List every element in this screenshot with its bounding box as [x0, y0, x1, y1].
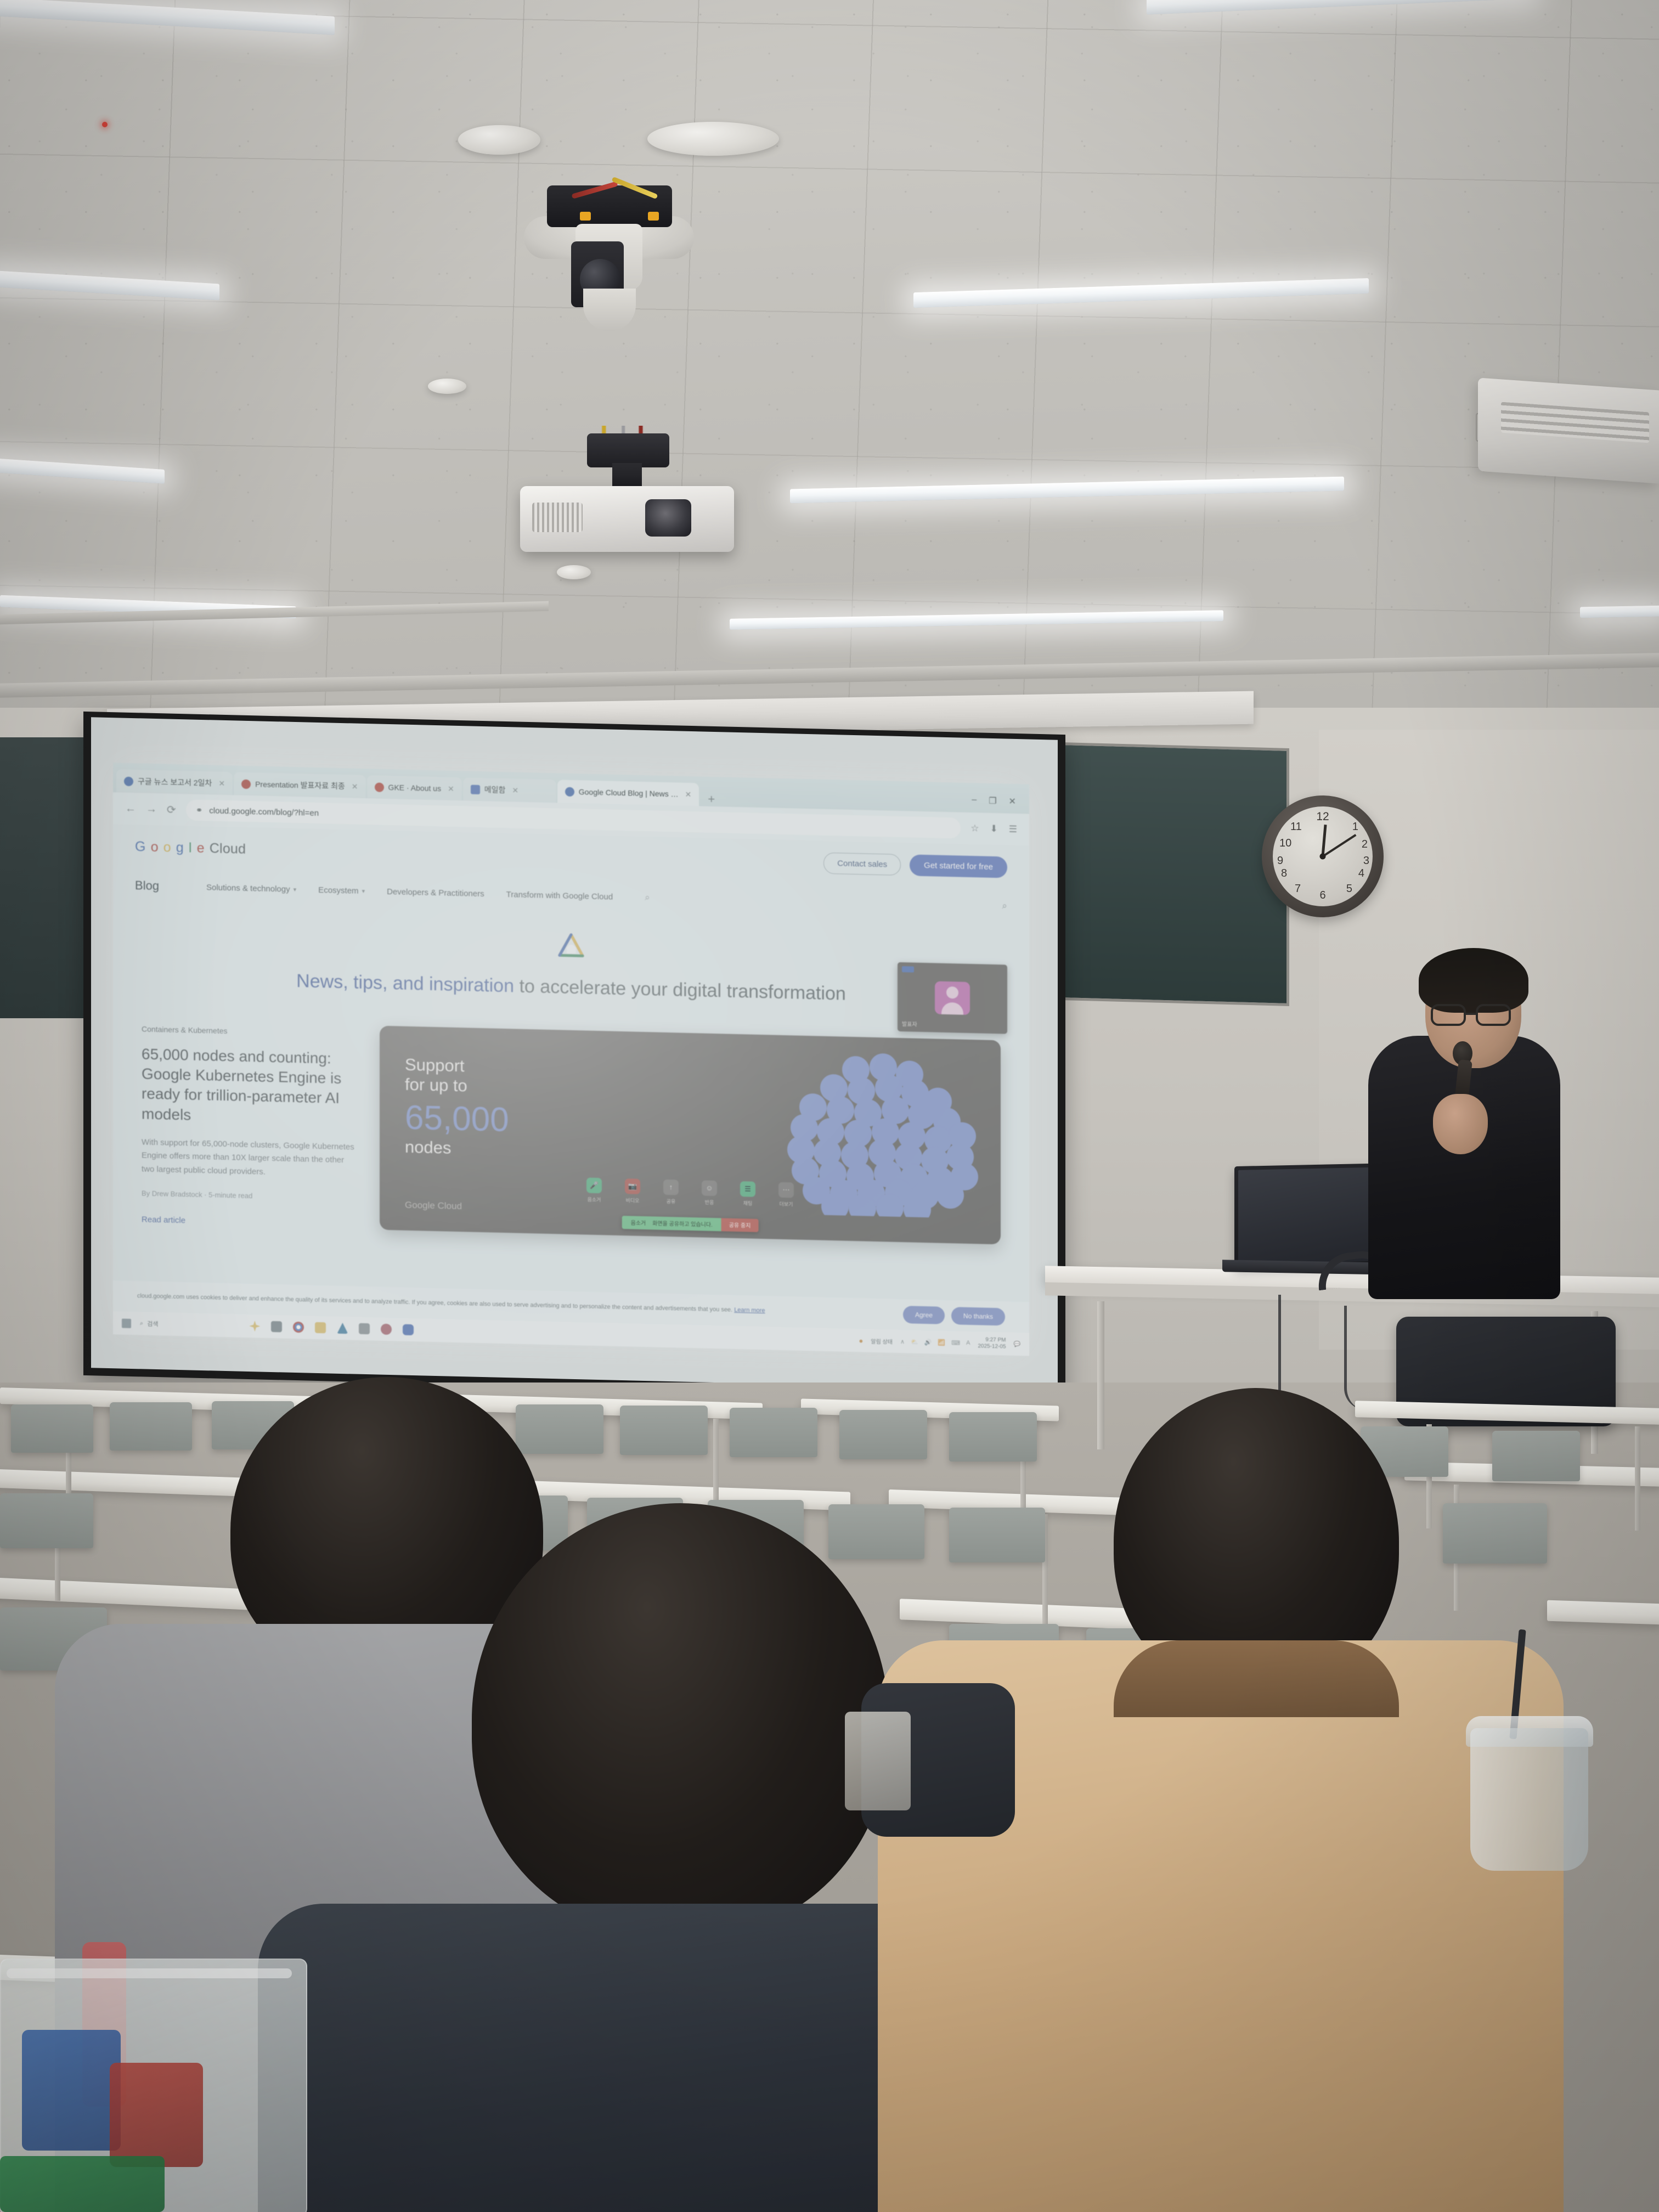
- chair-6: [730, 1408, 817, 1457]
- clock-center-pin: [1320, 854, 1326, 860]
- camera-icon: 📷: [625, 1178, 640, 1194]
- hero-title: News, tips, and inspiration to accelerat…: [275, 968, 867, 1007]
- camera-base: [583, 289, 636, 331]
- clock-time: 9:27 PM: [978, 1336, 1006, 1344]
- toolbar-icons: ☆ ⬇ ☰: [970, 823, 1017, 835]
- clock-numeral-6: 6: [1319, 889, 1325, 902]
- zoom-icon[interactable]: [403, 1324, 414, 1335]
- clock-hour-hand: [1322, 825, 1327, 856]
- window-controls: – ❐ ✕: [972, 795, 1024, 814]
- chevron-down-icon: ▾: [294, 885, 297, 893]
- chair-13: [828, 1504, 924, 1559]
- chair-9: [0, 1493, 93, 1548]
- meeting-button-label: 더보기: [778, 1200, 794, 1207]
- google-cloud-mark-icon: [555, 931, 587, 963]
- stop-sharing-button[interactable]: 공유 중지: [721, 1218, 759, 1232]
- nav-item-label: Developers & Practitioners: [387, 887, 484, 898]
- google-cloud-logo[interactable]: Google Cloud: [135, 839, 246, 857]
- clock-numeral-8: 8: [1281, 867, 1287, 880]
- weather-icon[interactable]: ⛅: [911, 1338, 918, 1345]
- article-headline[interactable]: 65,000 nodes and counting: Google Kubern…: [142, 1044, 356, 1129]
- clock-face: 12 1 2 3 4 5 6 7 8 9 10 11: [1273, 806, 1373, 906]
- logo-letter-o2: o: [163, 839, 171, 855]
- share-notice: 음소거 화면을 공유하고 있습니다.: [622, 1216, 721, 1231]
- meeting-camera-button[interactable]: 📷 비디오: [624, 1178, 641, 1204]
- desk-leg-6: [1635, 1426, 1640, 1531]
- tab-title: GKE · About us: [388, 783, 442, 793]
- tab-title: Google Cloud Blog | News …: [579, 787, 679, 798]
- nav-item-ecosystem[interactable]: Ecosystem ▾: [318, 885, 365, 895]
- clock-numeral-4: 4: [1358, 867, 1364, 880]
- tab-title: Presentation 발표자료 최종: [255, 778, 345, 792]
- card-line-3: nodes: [405, 1137, 569, 1161]
- search-placeholder: 검색: [147, 1319, 158, 1328]
- tab-title: 구글 뉴스 보고서 2일차: [138, 776, 212, 788]
- clock-minute-hand: [1322, 834, 1357, 857]
- projector-lens: [645, 499, 691, 537]
- presenter-hands: [1433, 1094, 1488, 1154]
- bag-item-blue: [22, 2030, 121, 2151]
- url-text: cloud.google.com/blog/?hl=en: [209, 806, 319, 818]
- ceiling-speaker-2: [647, 122, 779, 156]
- cookie-agree-button[interactable]: Agree: [903, 1306, 945, 1324]
- logo-letter-o1: o: [151, 839, 159, 855]
- camera-body: [547, 185, 672, 227]
- cookie-decline-button[interactable]: No thanks: [951, 1307, 1005, 1325]
- chair-1: [11, 1404, 93, 1453]
- tray-status-label: 알림 상태: [871, 1336, 893, 1345]
- video-call-participant-tile[interactable]: 발표자: [898, 962, 1007, 1034]
- read-article-link[interactable]: Read article: [142, 1215, 185, 1225]
- reaction-icon: ☺: [702, 1180, 717, 1196]
- maximize-button[interactable]: ❐: [989, 795, 996, 806]
- meeting-more-button[interactable]: ⋯ 더보기: [778, 1182, 794, 1207]
- meeting-reaction-button[interactable]: ☺ 반응: [701, 1180, 718, 1206]
- ceiling-speaker-1: [458, 125, 540, 155]
- forward-button[interactable]: →: [146, 803, 157, 815]
- featured-article-text: Containers & Kubernetes 65,000 nodes and…: [142, 1020, 356, 1230]
- share-mute-label[interactable]: 음소거: [631, 1218, 646, 1227]
- desk-leg-3: [713, 1419, 719, 1512]
- nav-item-label: Ecosystem: [318, 885, 358, 895]
- meeting-button-label: 반응: [701, 1198, 718, 1206]
- taskbar-left: ⌕ 검색: [122, 1318, 158, 1329]
- drink-cup: [1470, 1728, 1588, 1871]
- nav-item-label: Solutions & technology: [206, 883, 290, 894]
- ceiling-sensor-1: [428, 379, 466, 394]
- get-started-button[interactable]: Get started for free: [910, 854, 1007, 878]
- meeting-button-label: 공유: [663, 1197, 679, 1205]
- presenter-desk-leg-left: [1097, 1301, 1104, 1449]
- meeting-share-button[interactable]: ↑ 공유: [663, 1179, 679, 1205]
- projected-browser-window[interactable]: 구글 뉴스 보고서 2일차 ✕ Presentation 발표자료 최종 ✕ G…: [113, 763, 1029, 1356]
- tab-close-icon[interactable]: ✕: [685, 789, 692, 799]
- wall-clock: 12 1 2 3 4 5 6 7 8 9 10 11: [1262, 795, 1384, 917]
- cookie-message: cloud.google.com uses cookies to deliver…: [137, 1293, 732, 1314]
- search-icon: ⌕: [140, 1320, 143, 1327]
- network-icon[interactable]: 📶: [938, 1339, 945, 1346]
- ceiling-projector: [516, 433, 746, 560]
- nav-item-transform[interactable]: Transform with Google Cloud: [506, 890, 613, 902]
- copilot-icon[interactable]: [249, 1321, 260, 1331]
- header-actions: Contact sales Get started for free: [823, 852, 1007, 878]
- projector-indicator-led: [102, 122, 108, 127]
- nav-search-icon[interactable]: ⌕: [645, 892, 650, 903]
- projector-mount: [587, 433, 669, 467]
- clock-numeral-2: 2: [1362, 838, 1368, 851]
- student-right-collar: [1114, 1640, 1399, 1717]
- logo-letter-g1: G: [135, 839, 146, 855]
- start-button-icon[interactable]: [122, 1318, 131, 1328]
- edge-icon[interactable]: [337, 1323, 348, 1334]
- participant-avatar: [935, 981, 970, 1015]
- browser-tab-2[interactable]: Presentation 발표자료 최종 ✕: [234, 772, 365, 798]
- taskbar-right: ● 알림 상태 ∧ ⛅ 🔊 📶 ⌨ A 9:27 PM: [859, 1334, 1020, 1351]
- chair-21: [1443, 1503, 1547, 1564]
- hero-title-accent: News, tips, and inspiration: [296, 970, 514, 996]
- card-line-2: for up to: [405, 1075, 569, 1099]
- chair-8: [949, 1412, 1037, 1462]
- article-byline: By Drew Bradstock · 5-minute read: [142, 1189, 356, 1202]
- google-cloud-blog-page: Google Cloud Contact sales Get started f…: [113, 824, 1029, 1356]
- node-cluster-illustration: [774, 1049, 982, 1218]
- chair-4: [516, 1404, 603, 1454]
- browser-tab-4[interactable]: 메일함 ✕: [463, 777, 556, 803]
- camera-connector-right: [648, 212, 659, 221]
- clock-date: 2025-12-05: [978, 1343, 1006, 1351]
- clock-numeral-12: 12: [1316, 810, 1329, 823]
- projector-vent: [532, 503, 583, 532]
- lecture-hall-scene: 12 1 2 3 4 5 6 7 8 9 10 11: [0, 0, 1659, 2212]
- article-category[interactable]: Containers & Kubernetes: [142, 1024, 356, 1038]
- chair-2: [110, 1402, 192, 1451]
- notification-center-icon[interactable]: 💬: [1014, 1341, 1020, 1347]
- minimize-button[interactable]: –: [972, 795, 977, 806]
- logo-letter-g2: g: [176, 839, 184, 855]
- microphone-icon: 🎤: [586, 1177, 602, 1193]
- camera-connector-left: [580, 212, 591, 221]
- card-big-number: 65,000: [405, 1100, 569, 1138]
- tab-favicon-icon: [565, 787, 574, 796]
- clock-numeral-11: 11: [1290, 821, 1302, 833]
- hero-title-rest: to accelerate your digital transformatio…: [514, 975, 846, 1004]
- site-info-icon[interactable]: ⚭: [196, 805, 203, 815]
- clock-numeral-9: 9: [1277, 855, 1283, 867]
- volume-icon[interactable]: 🔊: [924, 1339, 932, 1346]
- tab-favicon-icon: [241, 779, 251, 788]
- logo-letter-e: e: [197, 840, 205, 856]
- card-copy: Support for up to 65,000 nodes: [405, 1054, 569, 1160]
- nav-item-solutions[interactable]: Solutions & technology ▾: [206, 883, 296, 894]
- card-brand-logo: Google Cloud: [405, 1199, 462, 1211]
- ptz-camera: [518, 159, 699, 329]
- meeting-chat-button[interactable]: ☰ 채팅: [740, 1181, 756, 1207]
- chat-icon: ☰: [740, 1181, 755, 1197]
- tab-favicon-icon: [471, 785, 480, 794]
- tab-close-icon[interactable]: ✕: [512, 786, 518, 795]
- chrome-icon[interactable]: [293, 1322, 304, 1333]
- tab-favicon-icon: [375, 782, 384, 792]
- taskbar-search[interactable]: ⌕ 검색: [140, 1319, 158, 1328]
- notepad-icon[interactable]: [359, 1323, 370, 1334]
- tab-title: 메일함: [484, 784, 506, 795]
- nav-search-icon-right[interactable]: ⌕: [1002, 900, 1007, 911]
- app-six-icon[interactable]: [381, 1324, 392, 1335]
- cookie-buttons: Agree No thanks: [903, 1306, 1005, 1325]
- desk-far-right-bottom: [1547, 1600, 1659, 1625]
- bag-item-red: [110, 2063, 203, 2167]
- nav-item-developers[interactable]: Developers & Practitioners: [387, 887, 484, 898]
- eyeglasses-right-lens: [1476, 1004, 1511, 1026]
- desk-cable-2: [1344, 1306, 1383, 1410]
- clock-numeral-3: 3: [1363, 855, 1369, 867]
- clock-numeral-7: 7: [1295, 883, 1301, 895]
- tab-close-icon[interactable]: ✕: [448, 784, 454, 793]
- more-options-icon: ⋯: [778, 1182, 794, 1198]
- meeting-button-label: 비디오: [624, 1197, 641, 1204]
- taskbar-clock[interactable]: 9:27 PM 2025-12-05: [978, 1336, 1006, 1351]
- featured-article-card[interactable]: Support for up to 65,000 nodes: [380, 1025, 1001, 1244]
- plastic-bag-seal: [7, 1968, 292, 1978]
- chevron-down-icon: ▾: [362, 887, 365, 894]
- article-description: With support for 65,000-node clusters, G…: [142, 1136, 356, 1181]
- eyeglasses-left-lens: [1431, 1004, 1466, 1026]
- reload-button[interactable]: ⟳: [167, 803, 176, 816]
- browser-tab-5-active[interactable]: Google Cloud Blog | News … ✕: [557, 780, 699, 806]
- projection-screen: 구글 뉴스 보고서 2일차 ✕ Presentation 발표자료 최종 ✕ G…: [83, 712, 1065, 1398]
- meeting-button-label: 음소거: [586, 1195, 602, 1203]
- participant-name: 발표자: [902, 1019, 917, 1028]
- chalkboard-right: [1040, 742, 1289, 1006]
- tab-favicon-icon: [124, 776, 133, 786]
- clock-numeral-1: 1: [1352, 821, 1358, 833]
- presenter-hair: [1419, 948, 1528, 1013]
- back-button[interactable]: ←: [125, 802, 136, 815]
- chair-5: [620, 1406, 708, 1455]
- tab-close-icon[interactable]: ✕: [218, 778, 225, 788]
- meeting-mic-button[interactable]: 🎤 음소거: [586, 1177, 602, 1203]
- screen-share-icon: ↑: [663, 1179, 679, 1195]
- contact-sales-button[interactable]: Contact sales: [823, 852, 901, 875]
- screen-surface: 구글 뉴스 보고서 2일차 ✕ Presentation 발표자료 최종 ✕ G…: [91, 717, 1058, 1391]
- new-tab-button[interactable]: +: [700, 792, 723, 806]
- student-center-head: [472, 1503, 889, 1937]
- chair-20: [1492, 1431, 1580, 1481]
- clock-numeral-10: 10: [1279, 837, 1291, 850]
- chair-7: [839, 1410, 927, 1459]
- cookie-learn-more-link[interactable]: Learn more: [734, 1307, 765, 1314]
- logo-letter-l: l: [189, 840, 192, 856]
- browser-tab-1[interactable]: 구글 뉴스 보고서 2일차 ✕: [116, 769, 233, 795]
- eyeglasses-bridge: [1466, 1013, 1476, 1015]
- kakao-icon[interactable]: [315, 1322, 326, 1333]
- meeting-button-label: 채팅: [740, 1199, 756, 1207]
- ceiling-light-9: [1580, 606, 1659, 618]
- snack-container: [845, 1712, 911, 1810]
- menu-icon[interactable]: ☰: [1009, 824, 1017, 835]
- tab-close-icon[interactable]: ✕: [352, 782, 358, 791]
- close-window-button[interactable]: ✕: [1009, 796, 1016, 807]
- logo-cloud-word: Cloud: [210, 840, 246, 857]
- meeting-control-bar: 🎤 음소거 📷 비디오 ↑ 공유: [586, 1177, 794, 1207]
- downloads-icon[interactable]: ⬇: [990, 823, 998, 834]
- nav-item-label: Transform with Google Cloud: [506, 890, 613, 902]
- share-notice-text: 화면을 공유하고 있습니다.: [652, 1218, 713, 1228]
- tray-alert-icon[interactable]: ●: [859, 1336, 864, 1345]
- featured-article-section: Containers & Kubernetes 65,000 nodes and…: [113, 1000, 1029, 1246]
- nav-blog-title[interactable]: Blog: [135, 878, 159, 893]
- card-brand-text: Google Cloud: [405, 1199, 462, 1211]
- file-explorer-icon[interactable]: [271, 1321, 282, 1332]
- tray-expand-icon[interactable]: ∧: [900, 1338, 905, 1345]
- bookmark-star-icon[interactable]: ☆: [970, 823, 979, 834]
- taskbar-apps: [249, 1321, 414, 1335]
- system-tray: ∧ ⛅ 🔊 📶 ⌨ A: [900, 1338, 970, 1346]
- ceiling-sensor-2: [557, 565, 591, 579]
- chair-14: [949, 1508, 1045, 1562]
- keyboard-icon[interactable]: ⌨: [951, 1339, 960, 1346]
- screen-share-notice-bar: 음소거 화면을 공유하고 있습니다. 공유 중지: [622, 1216, 759, 1232]
- ime-indicator[interactable]: A: [966, 1339, 970, 1346]
- browser-tab-3[interactable]: GKE · About us ✕: [367, 775, 462, 800]
- clock-numeral-5: 5: [1346, 883, 1352, 895]
- participant-badge-icon: [902, 966, 914, 973]
- bag-item-green: [0, 2156, 165, 2212]
